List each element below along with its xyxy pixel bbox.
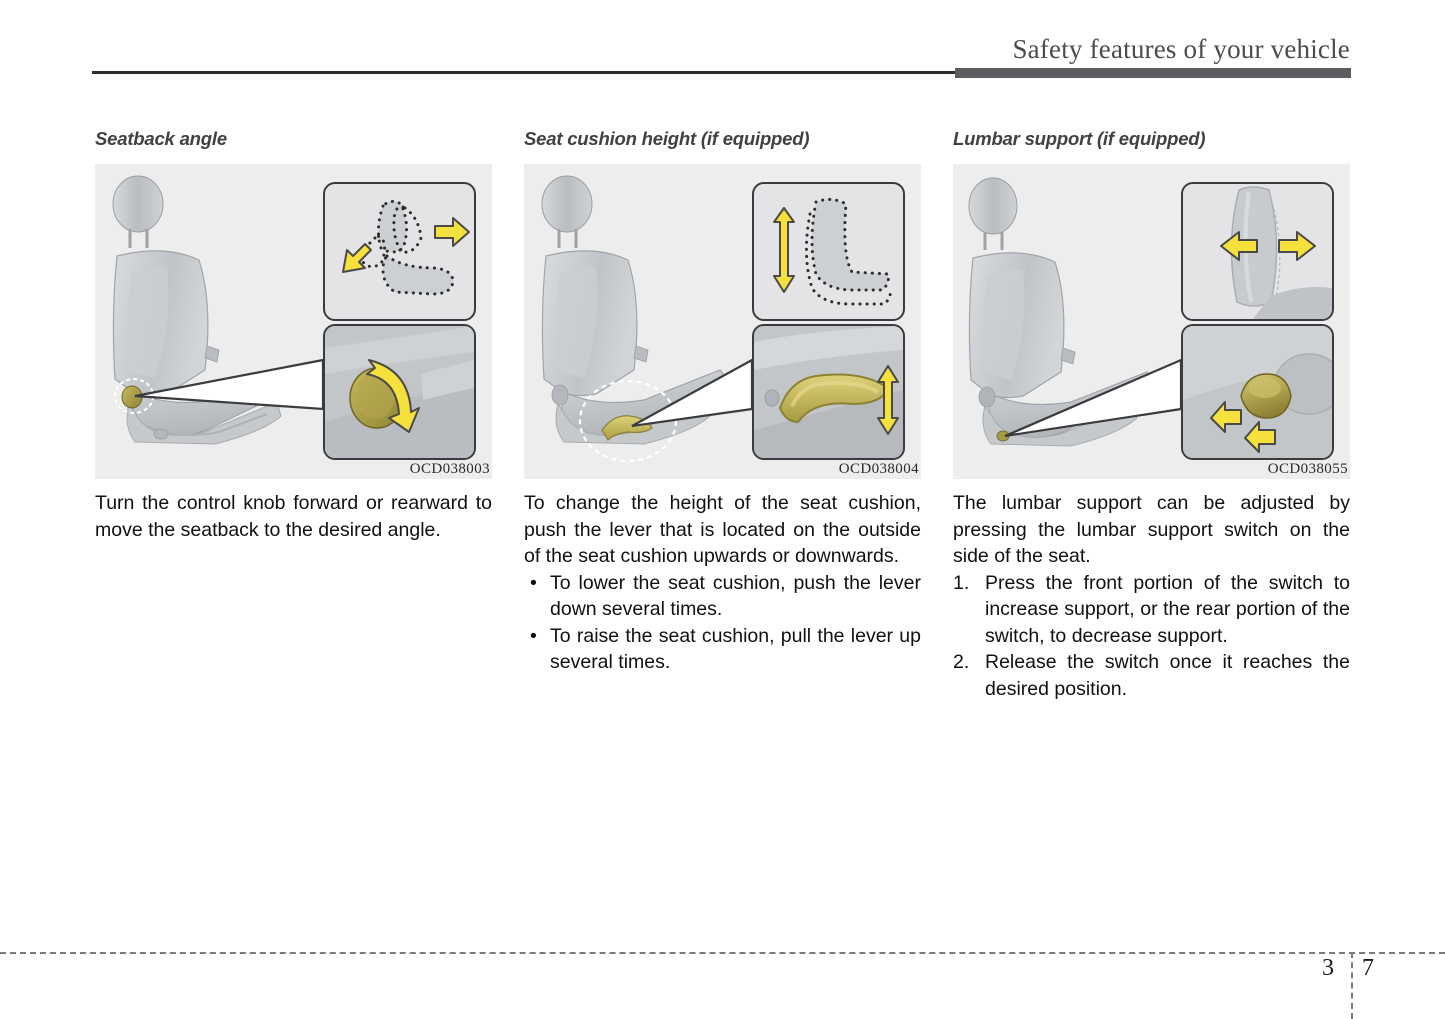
body-text-cushion: To change the height of the seat cushion… bbox=[524, 490, 921, 676]
bullet-marker: • bbox=[530, 570, 537, 597]
header-rule-thick bbox=[955, 68, 1351, 78]
figure-seatback-angle: OCD038003 bbox=[95, 164, 492, 479]
figure-caption-lumbar: OCD038055 bbox=[1268, 461, 1348, 478]
list-item-number: 2. bbox=[953, 649, 969, 676]
numbered-list-lumbar: 1. Press the front portion of the switch… bbox=[953, 570, 1350, 703]
body-text-seatback: Turn the control knob forward or rearwar… bbox=[95, 490, 492, 543]
list-item-text: Release the switch once it reaches the d… bbox=[985, 651, 1350, 700]
header-rule-thin bbox=[92, 71, 958, 74]
figure-seat-cushion-height: OCD038004 bbox=[524, 164, 921, 479]
column-seat-cushion-height: Seat cushion height (if equipped) bbox=[524, 128, 921, 676]
inset-seat-height bbox=[752, 182, 905, 321]
list-item: • To lower the seat cushion, push the le… bbox=[524, 570, 921, 623]
list-item: 1. Press the front portion of the switch… bbox=[953, 570, 1350, 650]
seatback-rotation-arrows-icon bbox=[325, 184, 474, 319]
inset-seatback-rotation bbox=[323, 182, 476, 321]
list-item-text: To lower the seat cushion, push the leve… bbox=[550, 572, 921, 621]
column-lumbar-support: Lumbar support (if equipped) bbox=[953, 128, 1350, 702]
lumbar-switch-press-icon bbox=[1183, 326, 1332, 458]
section-heading-seatback-angle: Seatback angle bbox=[95, 128, 492, 150]
inset-lumbar-switch bbox=[1181, 324, 1334, 460]
inset-lumbar-profile bbox=[1181, 182, 1334, 321]
figure-caption-cushion: OCD038004 bbox=[839, 461, 919, 478]
lumbar-inout-arrows-icon bbox=[1183, 184, 1332, 319]
figure-caption-seatback: OCD038003 bbox=[410, 461, 490, 478]
list-item: 2. Release the switch once it reaches th… bbox=[953, 649, 1350, 702]
seat-height-updown-arrow-icon bbox=[754, 184, 903, 319]
page-title: Safety features of your vehicle bbox=[1012, 34, 1350, 65]
footer-crop-rule-vertical bbox=[1351, 952, 1353, 1019]
paragraph: To change the height of the seat cushion… bbox=[524, 490, 921, 570]
column-seatback-angle: Seatback angle bbox=[95, 128, 492, 543]
height-lever-updown-icon bbox=[754, 326, 903, 458]
recline-knob-rotate-icon bbox=[325, 326, 474, 458]
list-item: • To raise the seat cushion, pull the le… bbox=[524, 623, 921, 676]
inset-recline-knob bbox=[323, 324, 476, 460]
folio-chapter-number: 3 bbox=[1322, 955, 1334, 982]
inset-height-lever bbox=[752, 324, 905, 460]
list-item-text: To raise the seat cushion, pull the leve… bbox=[550, 625, 921, 674]
section-heading-lumbar-support: Lumbar support (if equipped) bbox=[953, 128, 1350, 150]
footer-crop-rule-horizontal bbox=[0, 952, 1445, 954]
paragraph: Turn the control knob forward or rearwar… bbox=[95, 490, 492, 543]
list-item-number: 1. bbox=[953, 570, 969, 597]
figure-lumbar-support: OCD038055 bbox=[953, 164, 1350, 479]
list-item-text: Press the front portion of the switch to… bbox=[985, 572, 1350, 647]
body-text-lumbar: The lumbar support can be adjusted by pr… bbox=[953, 490, 1350, 702]
bullet-list-cushion: • To lower the seat cushion, push the le… bbox=[524, 570, 921, 676]
section-heading-seat-cushion-height: Seat cushion height (if equipped) bbox=[524, 128, 921, 150]
page-header: Safety features of your vehicle bbox=[0, 0, 1445, 95]
paragraph: The lumbar support can be adjusted by pr… bbox=[953, 490, 1350, 570]
folio-page-number: 7 bbox=[1362, 955, 1374, 982]
bullet-marker: • bbox=[530, 623, 537, 650]
